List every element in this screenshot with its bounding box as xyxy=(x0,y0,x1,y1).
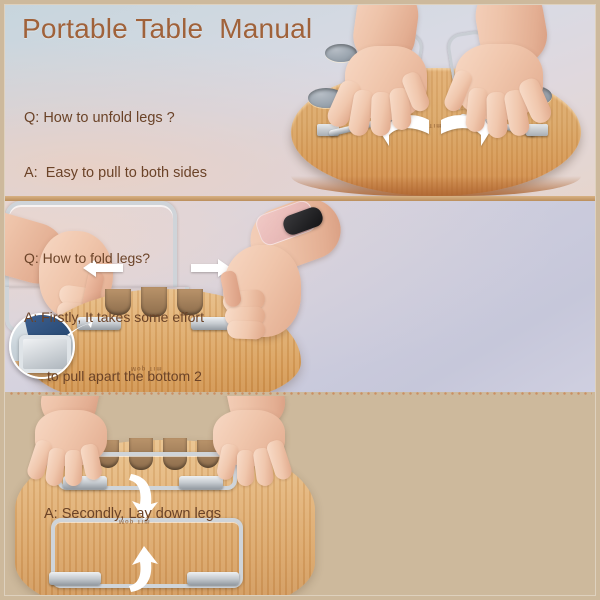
page-title: Portable Table Manual xyxy=(22,13,312,45)
finger xyxy=(465,87,488,133)
step-1-text: Q: How to unfold legs ? A: Easy to pull … xyxy=(24,82,207,196)
leg-foot-plate xyxy=(49,572,101,585)
right-hand xyxy=(425,8,555,140)
step-2-text: Q: How to fold legs? A: Firstly, It take… xyxy=(24,223,231,392)
panel-divider-dotted xyxy=(8,392,592,395)
manual-page: Mop Tim xyxy=(0,0,600,600)
finger xyxy=(237,450,254,486)
panel-step-2: Mop Tim xyxy=(5,201,595,392)
unfold-legs-photo: Mop Tim xyxy=(273,10,595,196)
qa-line: Q: How to fold legs? xyxy=(24,251,231,265)
finger xyxy=(370,92,392,137)
panel-step-3: Mop Tim xyxy=(5,396,595,595)
finger xyxy=(227,320,266,339)
qa-line: A: Firstly, It takes some effort xyxy=(24,310,231,324)
panel-step-1: Mop Tim xyxy=(5,5,595,196)
qa-line: to pull apart the bottom 2 xyxy=(24,369,231,383)
qa-line: Q: How to unfold legs ? xyxy=(24,111,207,126)
leg-foot-plate xyxy=(187,572,239,585)
qa-line: A: Easy to pull to both sides xyxy=(24,166,207,181)
step-3-text: A: Secondly, Lay down legs xyxy=(44,478,221,562)
qa-line: A: Secondly, Lay down legs xyxy=(44,507,221,522)
